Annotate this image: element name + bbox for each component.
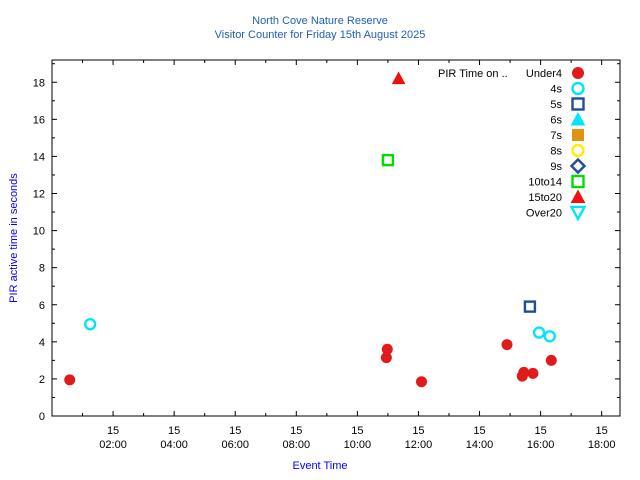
marker-5s — [525, 302, 535, 312]
y-tick-label: 2 — [39, 374, 45, 386]
x-tick-day: 15 — [229, 425, 241, 437]
marker-legend-6s — [572, 113, 585, 125]
marker-legend-4s — [573, 83, 584, 94]
marker-under4 — [517, 371, 527, 381]
x-tick-day: 15 — [168, 425, 180, 437]
y-tick-label: 14 — [33, 151, 45, 163]
x-tick-label: 18:00 — [588, 439, 616, 451]
legend-label: 6s — [550, 115, 562, 127]
marker-under4 — [528, 368, 538, 378]
marker-under4 — [502, 340, 512, 350]
x-tick-day: 15 — [290, 425, 302, 437]
y-tick-label: 10 — [33, 226, 45, 238]
legend-label: 4s — [550, 84, 562, 96]
x-tick-label: 02:00 — [99, 439, 127, 451]
marker-legend-over20 — [572, 207, 585, 219]
plot-surface: 0246810121416181502:001504:001506:001508… — [0, 0, 640, 480]
legend-title: PIR Time on .. — [438, 68, 508, 80]
x-tick-day: 15 — [351, 425, 363, 437]
legend-label: 9s — [550, 161, 562, 173]
y-tick-label: 16 — [33, 114, 45, 126]
marker-15to20 — [393, 73, 405, 84]
legend-label: Over20 — [526, 208, 562, 220]
legend-label: 15to20 — [528, 192, 562, 204]
axis-frame — [52, 60, 620, 416]
x-tick-day: 15 — [412, 425, 424, 437]
x-tick-label: 08:00 — [283, 439, 311, 451]
marker-under4 — [417, 377, 427, 387]
x-tick-day: 15 — [596, 425, 608, 437]
x-axis-title: Event Time — [0, 460, 640, 472]
marker-under4 — [546, 355, 556, 365]
marker-under4 — [65, 375, 75, 385]
marker-legend-under4 — [573, 68, 584, 79]
x-tick-label: 04:00 — [160, 439, 188, 451]
y-tick-label: 12 — [33, 189, 45, 201]
legend-label: 7s — [550, 130, 562, 142]
x-tick-label: 12:00 — [405, 439, 433, 451]
marker-4s — [85, 319, 95, 329]
legend-label: 5s — [550, 99, 562, 111]
y-tick-label: 6 — [39, 300, 45, 312]
marker-legend-5s — [573, 99, 584, 110]
marker-legend-10to14 — [573, 176, 584, 187]
marker-4s — [534, 328, 544, 338]
marker-legend-7s — [573, 130, 584, 141]
y-tick-label: 18 — [33, 77, 45, 89]
marker-10to14 — [383, 155, 393, 165]
y-tick-label: 8 — [39, 263, 45, 275]
y-tick-label: 4 — [39, 337, 45, 349]
x-tick-day: 15 — [473, 425, 485, 437]
y-axis-title: PIR active time in seconds — [8, 138, 20, 338]
x-tick-label: 06:00 — [221, 439, 249, 451]
marker-legend-8s — [573, 145, 584, 156]
legend-label: 10to14 — [528, 177, 562, 189]
x-tick-label: 10:00 — [344, 439, 372, 451]
x-tick-day: 15 — [534, 425, 546, 437]
marker-legend-9s — [572, 160, 585, 173]
x-tick-label: 14:00 — [466, 439, 494, 451]
legend-label: 8s — [550, 146, 562, 158]
x-tick-label: 16:00 — [527, 439, 555, 451]
marker-under4 — [381, 353, 391, 363]
marker-4s — [545, 331, 555, 341]
x-tick-day: 15 — [107, 425, 119, 437]
marker-legend-15to20 — [572, 191, 585, 203]
y-tick-label: 0 — [39, 411, 45, 423]
legend-label: Under4 — [526, 68, 562, 80]
scatter-chart: North Cove Nature Reserve Visitor Counte… — [0, 0, 640, 480]
